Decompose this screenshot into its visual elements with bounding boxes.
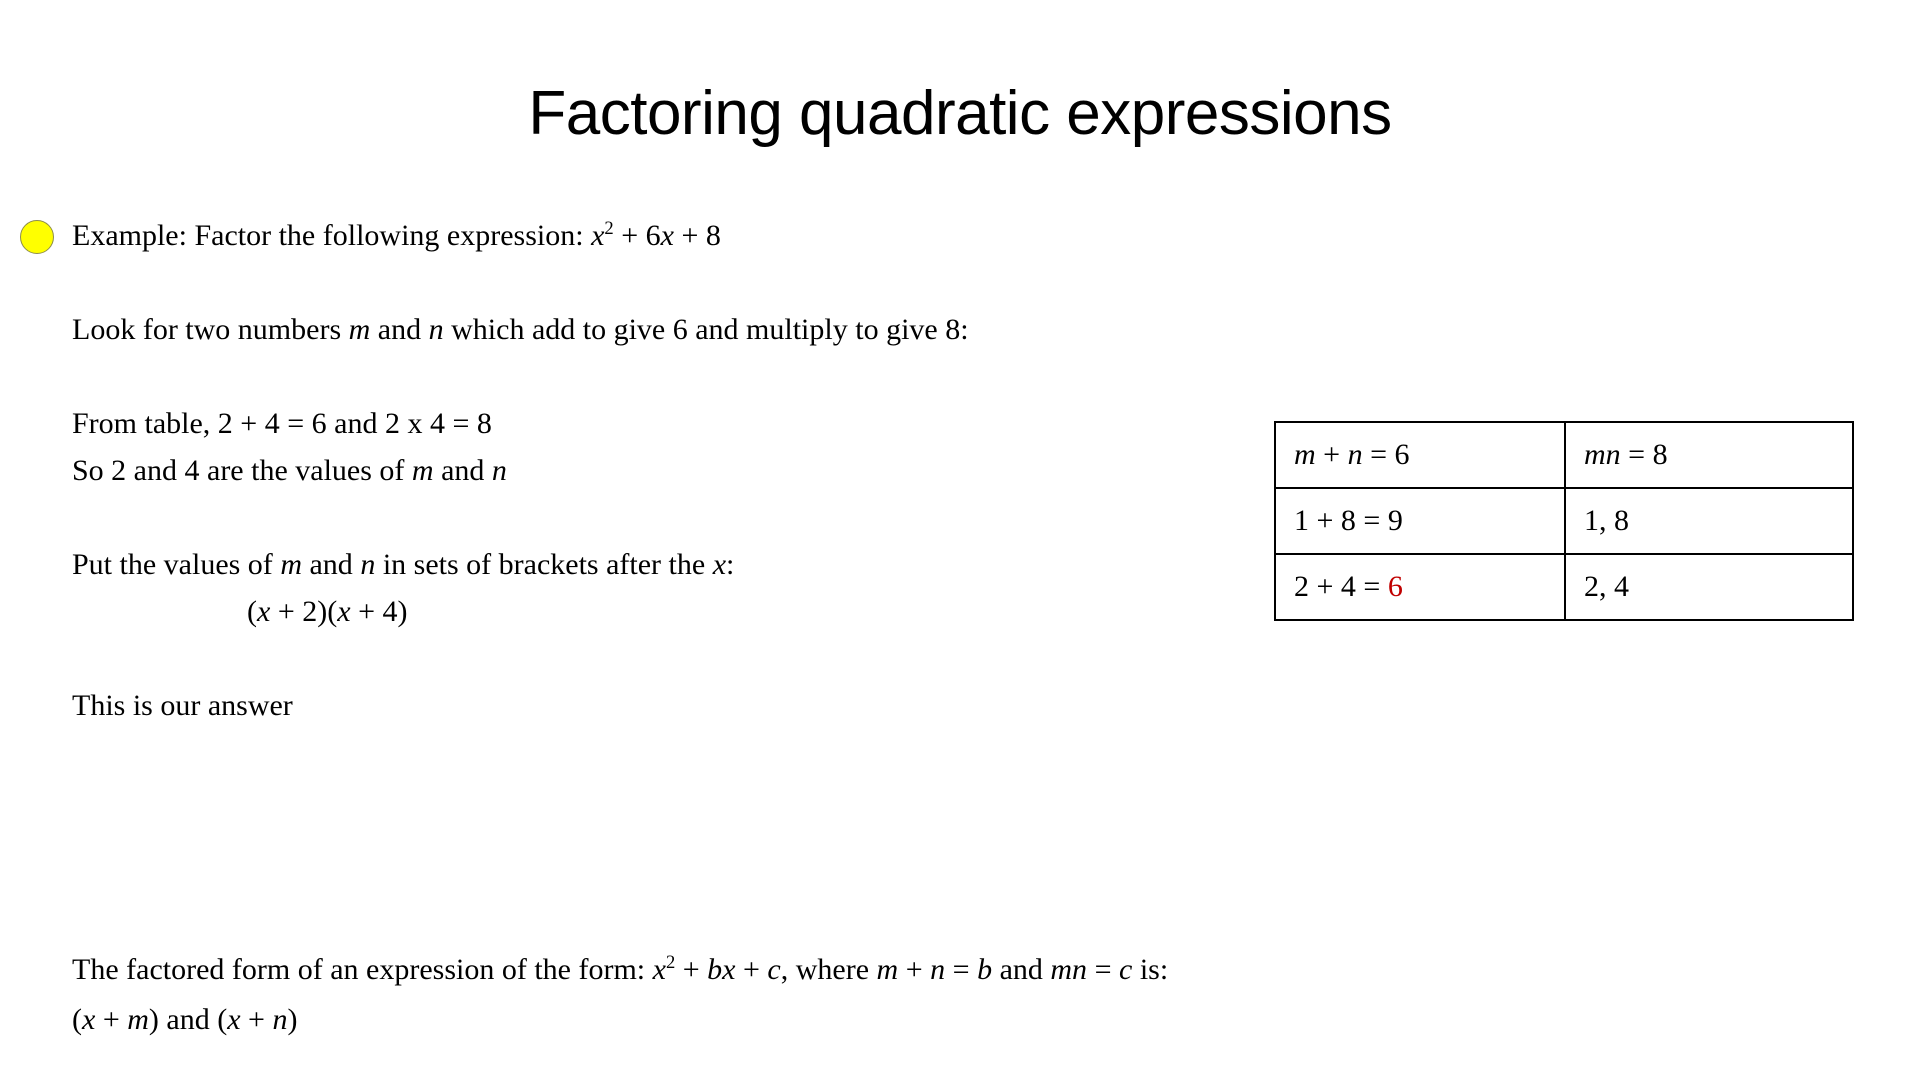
- so-values-text-b: and: [434, 454, 492, 487]
- so-values-line: So 2 and 4 are the values of m and n: [72, 447, 1252, 494]
- summary-var-n: n: [930, 953, 945, 986]
- summary-var-c2: c: [1119, 953, 1132, 986]
- example-expr-x: x: [591, 219, 604, 252]
- table-cell-header-product: mn = 8: [1565, 422, 1853, 488]
- summary-line-1: The factored form of an expression of th…: [72, 945, 1832, 995]
- summary-var-b: b: [707, 953, 722, 986]
- put-values-text-a: Put the values of: [72, 548, 280, 581]
- example-expr-tail: + 8: [674, 219, 721, 252]
- header-plus: +: [1316, 438, 1348, 471]
- summary2-text-e: ): [287, 1003, 297, 1036]
- summary-var-x2: x: [722, 953, 735, 986]
- spacer-4: [72, 635, 1252, 682]
- header-sum-value: = 6: [1363, 438, 1410, 471]
- summary2-var-x1: x: [82, 1003, 95, 1036]
- summary-text-f: =: [945, 953, 977, 986]
- summary-text-g: and: [992, 953, 1050, 986]
- table-cell-sum-2-highlight: 6: [1388, 570, 1403, 603]
- put-values-text-b: and: [302, 548, 360, 581]
- summary-exponent: 2: [666, 952, 675, 973]
- body-text-block: Example: Factor the following expression…: [72, 212, 1252, 729]
- factor-pairs-table: m + n = 6 mn = 8 1 + 8 = 9 1, 8 2 + 4 = …: [1274, 421, 1854, 621]
- table-row: 2 + 4 = 6 2, 4: [1275, 554, 1853, 620]
- summary2-text-d: +: [241, 1003, 273, 1036]
- so-values-var-m: m: [412, 454, 434, 487]
- summary-text-a: The factored form of an expression of th…: [72, 953, 653, 986]
- look-for-var-n: n: [429, 313, 444, 346]
- put-values-text-d: :: [726, 548, 734, 581]
- summary-var-b2: b: [977, 953, 992, 986]
- summary2-var-m: m: [127, 1003, 149, 1036]
- look-for-text-c: which add to give 6 and multiply to give…: [444, 313, 969, 346]
- put-values-var-x: x: [713, 548, 726, 581]
- put-values-var-n: n: [360, 548, 375, 581]
- summary2-text-a: (: [72, 1003, 82, 1036]
- table-cell-sum-2-black: 2 + 4 =: [1294, 570, 1388, 603]
- brackets-text-a: (: [247, 595, 257, 628]
- summary2-text-c: ) and (: [149, 1003, 227, 1036]
- put-values-text-c: in sets of brackets after the: [375, 548, 712, 581]
- table-cell-sum-1: 1 + 8 = 9: [1275, 488, 1565, 554]
- summary2-var-x2: x: [227, 1003, 240, 1036]
- table-row: 1 + 8 = 9 1, 8: [1275, 488, 1853, 554]
- summary-block: The factored form of an expression of th…: [72, 945, 1832, 1045]
- table-cell-pair-2: 2, 4: [1565, 554, 1853, 620]
- table-cell-header-sum: m + n = 6: [1275, 422, 1565, 488]
- so-values-text-a: So 2 and 4 are the values of: [72, 454, 412, 487]
- circle-bullet-icon: [20, 220, 54, 254]
- spacer-1: [72, 259, 1252, 306]
- table-cell-sum-2: 2 + 4 = 6: [1275, 554, 1565, 620]
- summary-var-x: x: [653, 953, 666, 986]
- summary2-text-b: +: [95, 1003, 127, 1036]
- header-product-value: = 8: [1621, 438, 1668, 471]
- summary-text-b: +: [675, 953, 707, 986]
- from-table-line: From table, 2 + 4 = 6 and 2 x 4 = 8: [72, 400, 1252, 447]
- summary-line-2: (x + m) and (x + n): [72, 995, 1832, 1045]
- example-expr-mid: + 6: [614, 219, 661, 252]
- summary-var-mn: mn: [1050, 953, 1087, 986]
- so-values-var-n: n: [492, 454, 507, 487]
- summary-var-m: m: [877, 953, 899, 986]
- brackets-text-c: + 4): [351, 595, 408, 628]
- page-title: Factoring quadratic expressions: [0, 78, 1920, 150]
- put-values-var-m: m: [280, 548, 302, 581]
- header-var-n: n: [1348, 438, 1363, 471]
- answer-line: This is our answer: [72, 682, 1252, 729]
- look-for-text-a: Look for two numbers: [72, 313, 349, 346]
- example-line: Example: Factor the following expression…: [72, 212, 1252, 259]
- table-row-header: m + n = 6 mn = 8: [1275, 422, 1853, 488]
- spacer-3: [72, 494, 1252, 541]
- summary-text-d: , where: [781, 953, 877, 986]
- example-label: Example: Factor the following expression…: [72, 219, 591, 252]
- slide-canvas: Factoring quadratic expressions Example:…: [0, 0, 1920, 1080]
- table-cell-pair-1: 1, 8: [1565, 488, 1853, 554]
- factored-expression-line: (x + 2)(x + 4): [72, 588, 1252, 635]
- look-for-text-b: and: [370, 313, 428, 346]
- look-for-line: Look for two numbers m and n which add t…: [72, 306, 1252, 353]
- header-var-m: m: [1294, 438, 1316, 471]
- summary-text-e: +: [898, 953, 930, 986]
- spacer-2: [72, 353, 1252, 400]
- summary2-var-n: n: [272, 1003, 287, 1036]
- header-var-mn: mn: [1584, 438, 1621, 471]
- look-for-var-m: m: [349, 313, 371, 346]
- brackets-var-x1: x: [257, 595, 270, 628]
- example-expr-x2: x: [661, 219, 674, 252]
- example-expr-exponent: 2: [604, 218, 613, 239]
- summary-text-c: +: [736, 953, 768, 986]
- summary-text-h: =: [1087, 953, 1119, 986]
- brackets-var-x2: x: [337, 595, 350, 628]
- put-values-line: Put the values of m and n in sets of bra…: [72, 541, 1252, 588]
- summary-text-i: is:: [1132, 953, 1168, 986]
- summary-var-c: c: [767, 953, 780, 986]
- brackets-text-b: + 2)(: [270, 595, 337, 628]
